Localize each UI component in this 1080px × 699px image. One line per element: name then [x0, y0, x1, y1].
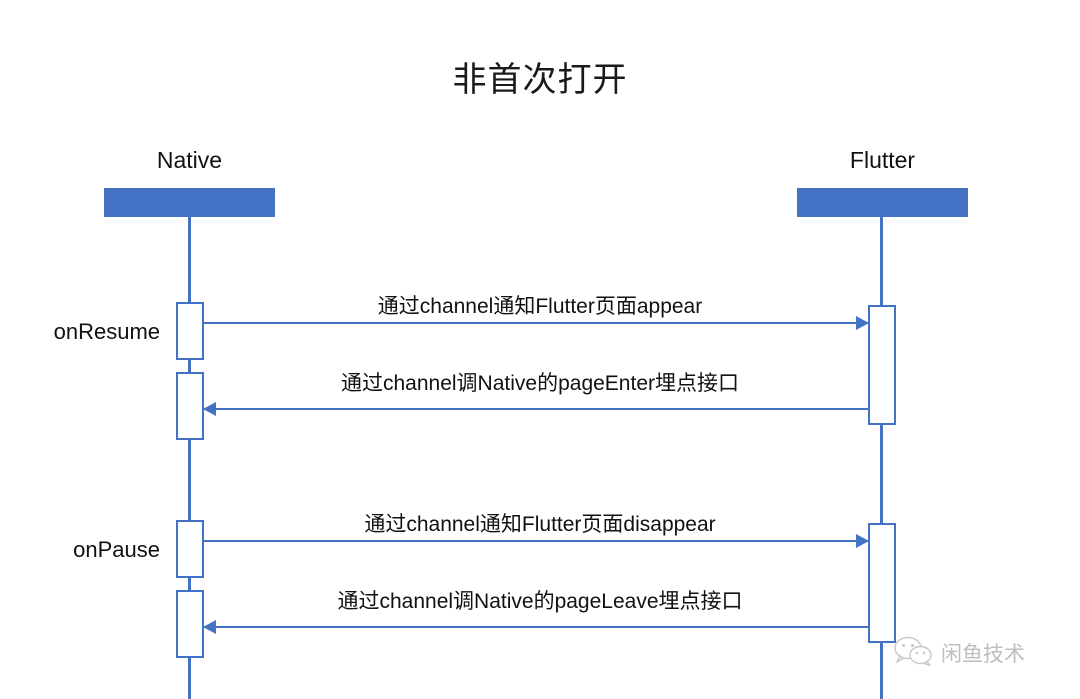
message-line-appear: [204, 322, 868, 324]
message-label-appear: 通过channel通知Flutter页面appear: [206, 293, 874, 321]
message-label-disappear: 通过channel通知Flutter页面disappear: [206, 511, 874, 539]
participant-label-flutter: Flutter: [797, 146, 968, 174]
lifeline-native-5: [188, 658, 191, 699]
stage-label-on-pause: onPause: [0, 536, 160, 564]
lifeline-native-3: [188, 440, 191, 520]
arrow-head-left-icon-page-leave: [203, 620, 216, 634]
lifeline-native-2: [188, 360, 191, 372]
arrow-head-left-icon-page-enter: [203, 402, 216, 416]
message-label-page-leave: 通过channel调Native的pageLeave埋点接口: [206, 588, 874, 616]
watermark-text: 闲鱼技术: [941, 641, 1025, 667]
wechat-icon: [893, 636, 933, 671]
lifeline-native-4: [188, 578, 191, 590]
stage-label-on-resume: onResume: [0, 318, 160, 346]
participant-label-native: Native: [104, 146, 275, 174]
arrow-head-right-icon-appear: [856, 316, 869, 330]
message-line-page-leave: [204, 626, 868, 628]
message-line-page-enter: [204, 408, 868, 410]
watermark: 闲鱼技术: [893, 636, 1025, 671]
activation-native-on-pause-2: [176, 590, 204, 658]
activation-flutter-appear: [868, 305, 896, 425]
lifeline-flutter-1: [880, 217, 883, 305]
activation-native-on-resume-1: [176, 302, 204, 360]
activation-native-on-pause-1: [176, 520, 204, 578]
lifeline-flutter-3: [880, 643, 883, 699]
lifeline-flutter-2: [880, 425, 883, 523]
page-title: 非首次打开: [0, 58, 1080, 102]
arrow-head-right-icon-disappear: [856, 534, 869, 548]
sequence-diagram-canvas: 非首次打开 Native Flutter onResume onPause 通过…: [0, 0, 1080, 699]
participant-header-flutter: [797, 188, 968, 217]
lifeline-native-1: [188, 217, 191, 302]
message-line-disappear: [204, 540, 868, 542]
activation-native-on-resume-2: [176, 372, 204, 440]
participant-header-native: [104, 188, 275, 217]
message-label-page-enter: 通过channel调Native的pageEnter埋点接口: [206, 370, 874, 398]
activation-flutter-disappear: [868, 523, 896, 643]
